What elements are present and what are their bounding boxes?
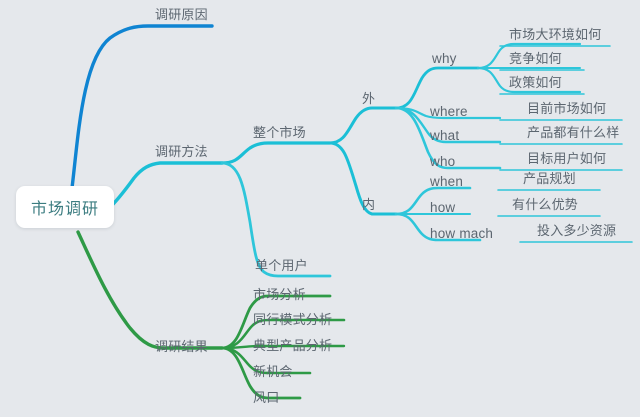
leaf-peer-model-analysis[interactable]: 同行模式分析	[253, 313, 332, 326]
leaf-market-analysis[interactable]: 市场分析	[253, 288, 306, 301]
node-research-reason[interactable]: 调研原因	[155, 8, 208, 21]
mindmap-canvas: 市场调研 调研原因 调研方法 调研结果 整个市场 单个用户 外 内 why wh…	[0, 0, 640, 417]
leaf-advantages[interactable]: 有什么优势	[512, 198, 578, 211]
leaf-product-planning[interactable]: 产品规划	[523, 172, 576, 185]
node-how[interactable]: how	[430, 201, 455, 215]
leaf-product-types[interactable]: 产品都有什么样	[527, 126, 619, 139]
edge-wholemarket-external	[330, 108, 396, 143]
edge-external-why	[396, 68, 478, 108]
node-external[interactable]: 外	[362, 92, 375, 105]
root-node-label: 市场调研	[31, 195, 99, 219]
leaf-trend[interactable]: 风口	[253, 391, 279, 404]
leaf-current-market[interactable]: 目前市场如何	[527, 102, 606, 115]
leaf-policy[interactable]: 政策如何	[509, 76, 562, 89]
node-what[interactable]: what	[430, 129, 459, 143]
leaf-target-users[interactable]: 目标用户如何	[527, 152, 606, 165]
node-when[interactable]: when	[430, 175, 463, 189]
node-why[interactable]: why	[432, 52, 457, 66]
node-internal[interactable]: 内	[362, 198, 375, 211]
leaf-competition[interactable]: 竞争如何	[509, 52, 562, 65]
leaf-new-opportunity[interactable]: 新机会	[253, 365, 293, 378]
leaf-resource-input[interactable]: 投入多少资源	[537, 224, 616, 237]
node-where[interactable]: where	[430, 105, 468, 119]
root-node[interactable]: 市场调研	[16, 186, 114, 228]
node-single-user[interactable]: 单个用户	[255, 259, 308, 272]
node-whole-market[interactable]: 整个市场	[253, 126, 306, 139]
node-research-result[interactable]: 调研结果	[155, 340, 208, 353]
edge-root-result	[78, 232, 222, 348]
edge-method-wholemarket	[222, 143, 330, 163]
leaf-typical-product-analysis[interactable]: 典型产品分析	[253, 339, 332, 352]
node-research-method[interactable]: 调研方法	[155, 145, 208, 158]
leaf-market-environment[interactable]: 市场大环境如何	[509, 28, 601, 41]
node-who[interactable]: who	[430, 155, 455, 169]
node-how-mach[interactable]: how mach	[430, 227, 493, 241]
